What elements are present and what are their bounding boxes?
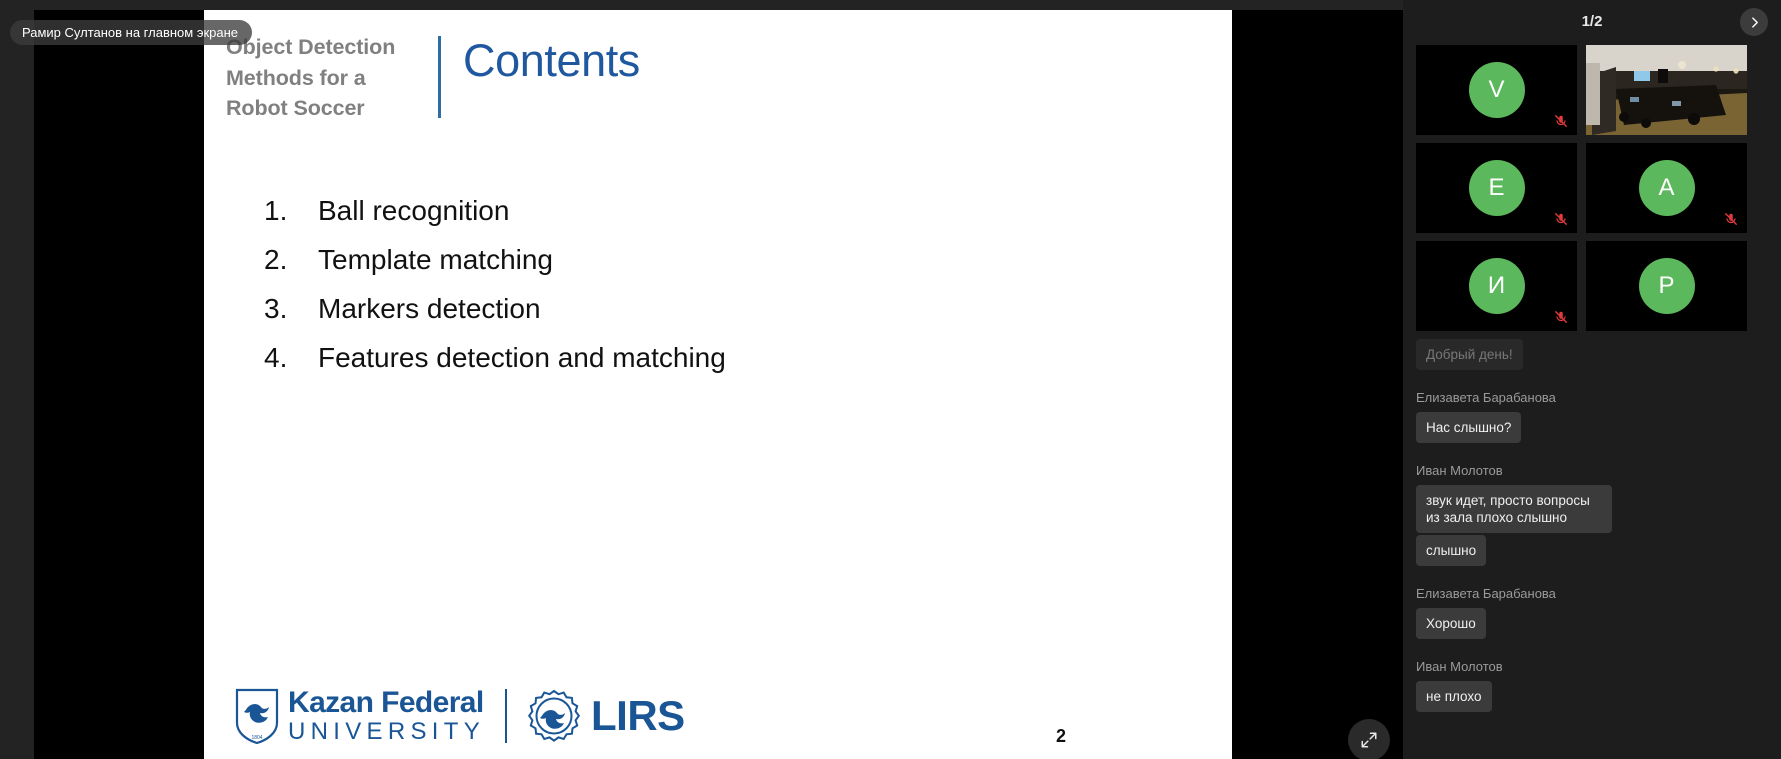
- list-item-label: Features detection and matching: [318, 333, 726, 382]
- list-item: 4. Features detection and matching: [264, 333, 726, 382]
- chat-bubble[interactable]: Хорошо: [1416, 608, 1486, 639]
- chat-bubble[interactable]: Нас слышно?: [1416, 412, 1521, 443]
- participant-tile-grid: V: [1403, 45, 1781, 331]
- kfu-line-1: Kazan Federal: [288, 688, 485, 718]
- mic-off-icon: [1724, 212, 1738, 226]
- chat-bubble[interactable]: Добрый день!: [1416, 339, 1523, 370]
- fullscreen-button[interactable]: [1348, 719, 1390, 759]
- contents-list: 1. Ball recognition 2. Template matching…: [264, 186, 726, 382]
- slide-title: Contents: [463, 32, 640, 90]
- logo-divider: [505, 689, 507, 743]
- participant-tile[interactable]: V: [1416, 45, 1577, 135]
- sidebar-pager: 1/2: [1403, 0, 1781, 45]
- avatar: V: [1469, 62, 1525, 118]
- avatar: A: [1639, 160, 1695, 216]
- chat-author: Иван Молотов: [1416, 659, 1768, 674]
- chat-author: Елизавета Барабанова: [1416, 390, 1768, 405]
- chevron-right-icon: [1748, 16, 1761, 29]
- chat-bubble-row: Нас слышно?: [1416, 412, 1768, 445]
- chat-bubble[interactable]: не плохо: [1416, 681, 1492, 712]
- chat-bubble-row: не плохо: [1416, 681, 1768, 714]
- video-conference-app: Object Detection Methods for a Robot Soc…: [0, 0, 1781, 759]
- list-item-label: Template matching: [318, 235, 553, 284]
- stage-top-bar: [0, 0, 1403, 10]
- chat-group: Добрый день!: [1416, 339, 1768, 372]
- list-item-number: 4.: [264, 333, 318, 382]
- lirs-gear-icon: [527, 689, 581, 743]
- page-indicator: 1/2: [1403, 13, 1781, 30]
- slide-footer-logos: 1804 Kazan Federal UNIVERSITY LIRS: [234, 681, 685, 751]
- participant-tile[interactable]: Р: [1586, 241, 1747, 331]
- slide-page-number: 2: [1056, 726, 1066, 747]
- list-item-label: Markers detection: [318, 284, 541, 333]
- avatar: Е: [1469, 160, 1525, 216]
- stage-left-rail: [0, 10, 34, 759]
- mic-off-icon: [1554, 310, 1568, 324]
- deck-title: Object Detection Methods for a Robot Soc…: [226, 32, 416, 124]
- participant-tile[interactable]: A: [1586, 143, 1747, 233]
- chat-author: Елизавета Барабанова: [1416, 586, 1768, 601]
- participants-and-chat-sidebar: 1/2 V: [1403, 0, 1781, 759]
- slide-header: Object Detection Methods for a Robot Soc…: [226, 32, 640, 124]
- kfu-crest-icon: 1804: [234, 687, 280, 745]
- avatar: И: [1469, 258, 1525, 314]
- list-item-label: Ball recognition: [318, 186, 509, 235]
- participant-tile[interactable]: [1586, 45, 1747, 135]
- chat-bubble-row: слышно: [1416, 535, 1768, 568]
- next-page-button[interactable]: [1740, 8, 1768, 36]
- list-item-number: 3.: [264, 284, 318, 333]
- avatar: Р: [1639, 258, 1695, 314]
- mic-off-icon: [1554, 212, 1568, 226]
- svg-text:1804: 1804: [251, 735, 262, 741]
- list-item-number: 2.: [264, 235, 318, 284]
- chat-bubble-row: Добрый день!: [1416, 339, 1768, 372]
- participant-tile[interactable]: Е: [1416, 143, 1577, 233]
- presentation-slide: Object Detection Methods for a Robot Soc…: [204, 10, 1232, 759]
- slide-title-divider: [438, 36, 441, 118]
- chat-author: Иван Молотов: [1416, 463, 1768, 478]
- list-item: 1. Ball recognition: [264, 186, 726, 235]
- list-item-number: 1.: [264, 186, 318, 235]
- chat-group: Елизавета Барабанова Хорошо: [1416, 586, 1768, 641]
- shared-screen-stage: Object Detection Methods for a Robot Soc…: [0, 0, 1403, 759]
- chat-bubble-row: Хорошо: [1416, 608, 1768, 641]
- list-item: 2. Template matching: [264, 235, 726, 284]
- chat-bubble[interactable]: слышно: [1416, 535, 1486, 566]
- chat-bubble[interactable]: звук идет, просто вопросы из зала плохо …: [1416, 485, 1612, 533]
- participant-video-feed: [1586, 45, 1747, 135]
- kfu-line-2: UNIVERSITY: [288, 720, 485, 744]
- chat-group: Иван Молотов звук идет, просто вопросы и…: [1416, 463, 1768, 568]
- mic-off-icon: [1554, 114, 1568, 128]
- chat-group: Елизавета Барабанова Нас слышно?: [1416, 390, 1768, 445]
- presenter-name-pill: Рамир Султанов на главном экране: [10, 20, 252, 45]
- chat-group: Иван Молотов не плохо: [1416, 659, 1768, 714]
- expand-icon: [1360, 731, 1378, 749]
- conference-room-video: [1586, 45, 1747, 135]
- chat-bubble-row: звук идет, просто вопросы из зала плохо …: [1416, 485, 1768, 535]
- participant-tile[interactable]: И: [1416, 241, 1577, 331]
- lirs-wordmark: LIRS: [591, 692, 685, 740]
- chat-panel[interactable]: Добрый день! Елизавета Барабанова Нас сл…: [1403, 331, 1781, 714]
- list-item: 3. Markers detection: [264, 284, 726, 333]
- kfu-wordmark: Kazan Federal UNIVERSITY: [288, 688, 485, 744]
